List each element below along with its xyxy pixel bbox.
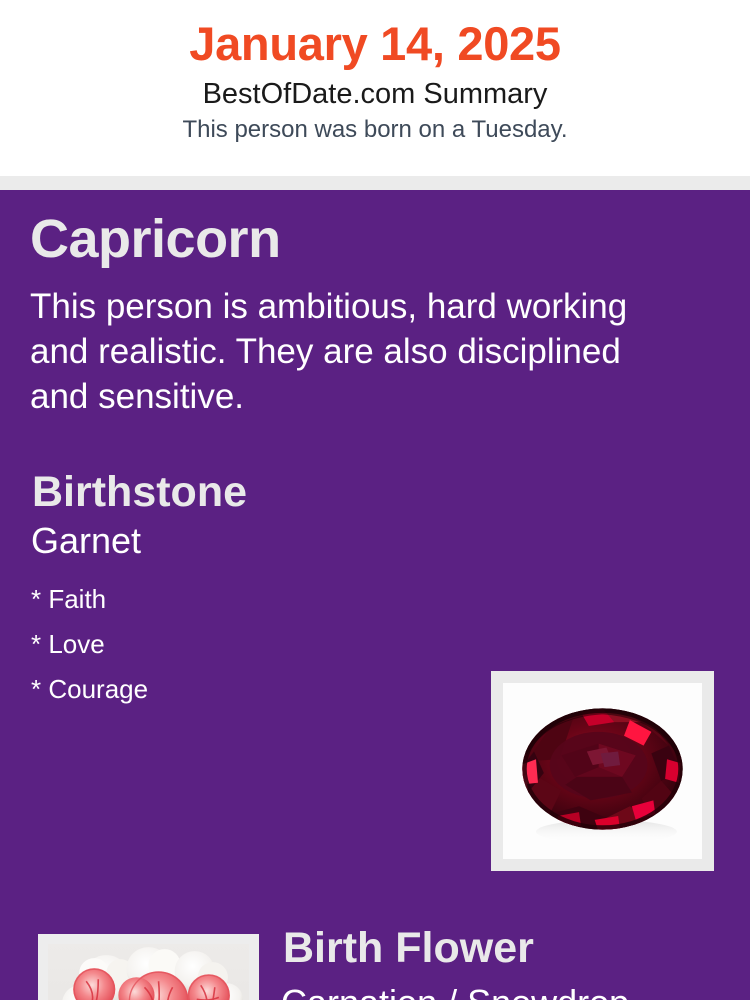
- page-title: January 14, 2025: [0, 18, 750, 71]
- list-item: * Love: [31, 622, 148, 667]
- summary-page: January 14, 2025 BestOfDate.com Summary …: [0, 0, 750, 1000]
- birthflower-image: [48, 944, 249, 1000]
- carnation-bouquet-icon: [48, 944, 249, 1000]
- birthstone-image-frame: [491, 671, 714, 871]
- zodiac-description: This person is ambitious, hard working a…: [30, 285, 655, 419]
- birthstone-image: [503, 683, 702, 859]
- zodiac-sign-name: Capricorn: [30, 212, 281, 266]
- summary-panel: Capricorn This person is ambitious, hard…: [0, 190, 750, 1000]
- born-day-text: This person was born on a Tuesday.: [0, 116, 750, 145]
- site-summary-label: BestOfDate.com Summary: [0, 77, 750, 112]
- list-item: * Faith: [31, 577, 148, 622]
- header-divider: [0, 176, 750, 190]
- birthstone-heading: Birthstone: [32, 471, 247, 514]
- list-item: * Courage: [31, 667, 148, 712]
- birthflower-name: Carnation / Snowdrop: [281, 985, 629, 1000]
- page-header: January 14, 2025 BestOfDate.com Summary …: [0, 0, 750, 176]
- birthflower-image-frame: [38, 934, 259, 1000]
- birthstone-name: Garnet: [31, 523, 141, 559]
- garnet-gem-icon: [503, 683, 702, 859]
- birthflower-heading: Birth Flower: [283, 927, 534, 970]
- birthstone-trait-list: * Faith * Love * Courage: [31, 577, 148, 712]
